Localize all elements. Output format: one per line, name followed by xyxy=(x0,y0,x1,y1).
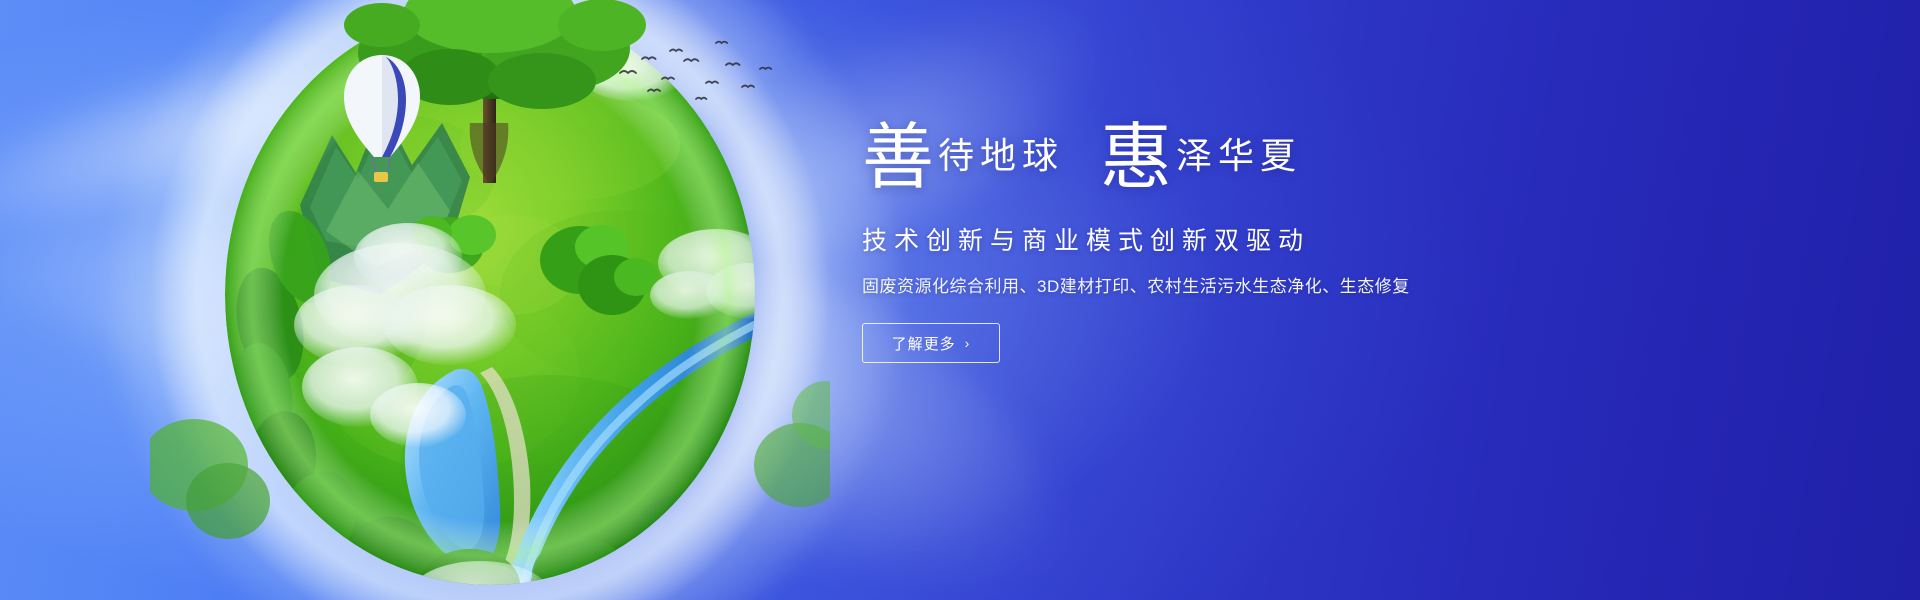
headline-rest-1: 待地球 xyxy=(938,136,1064,176)
page-subtitle: 技术创新与商业模式创新双驱动 xyxy=(862,224,1562,258)
page-title: 善待地球惠泽华夏 xyxy=(862,118,1562,210)
headline-emphasis-1: 善 xyxy=(862,118,934,198)
page-description: 固废资源化综合利用、3D建材打印、农村生活污水生态净化、生态修复 xyxy=(862,275,1562,299)
hero-banner: 善待地球惠泽华夏 技术创新与商业模式创新双驱动 固废资源化综合利用、3D建材打印… xyxy=(0,0,1920,600)
planet-illustration xyxy=(150,0,830,600)
tiny-planet-earth-icon xyxy=(150,0,830,600)
learn-more-label: 了解更多 xyxy=(892,333,956,354)
headline-rest-2: 泽华夏 xyxy=(1176,136,1302,176)
chevron-right-icon: › xyxy=(965,336,971,350)
learn-more-button[interactable]: 了解更多 › xyxy=(862,323,1000,363)
hero-content: 善待地球惠泽华夏 技术创新与商业模式创新双驱动 固废资源化综合利用、3D建材打印… xyxy=(862,118,1562,363)
headline-emphasis-2: 惠 xyxy=(1100,118,1172,198)
